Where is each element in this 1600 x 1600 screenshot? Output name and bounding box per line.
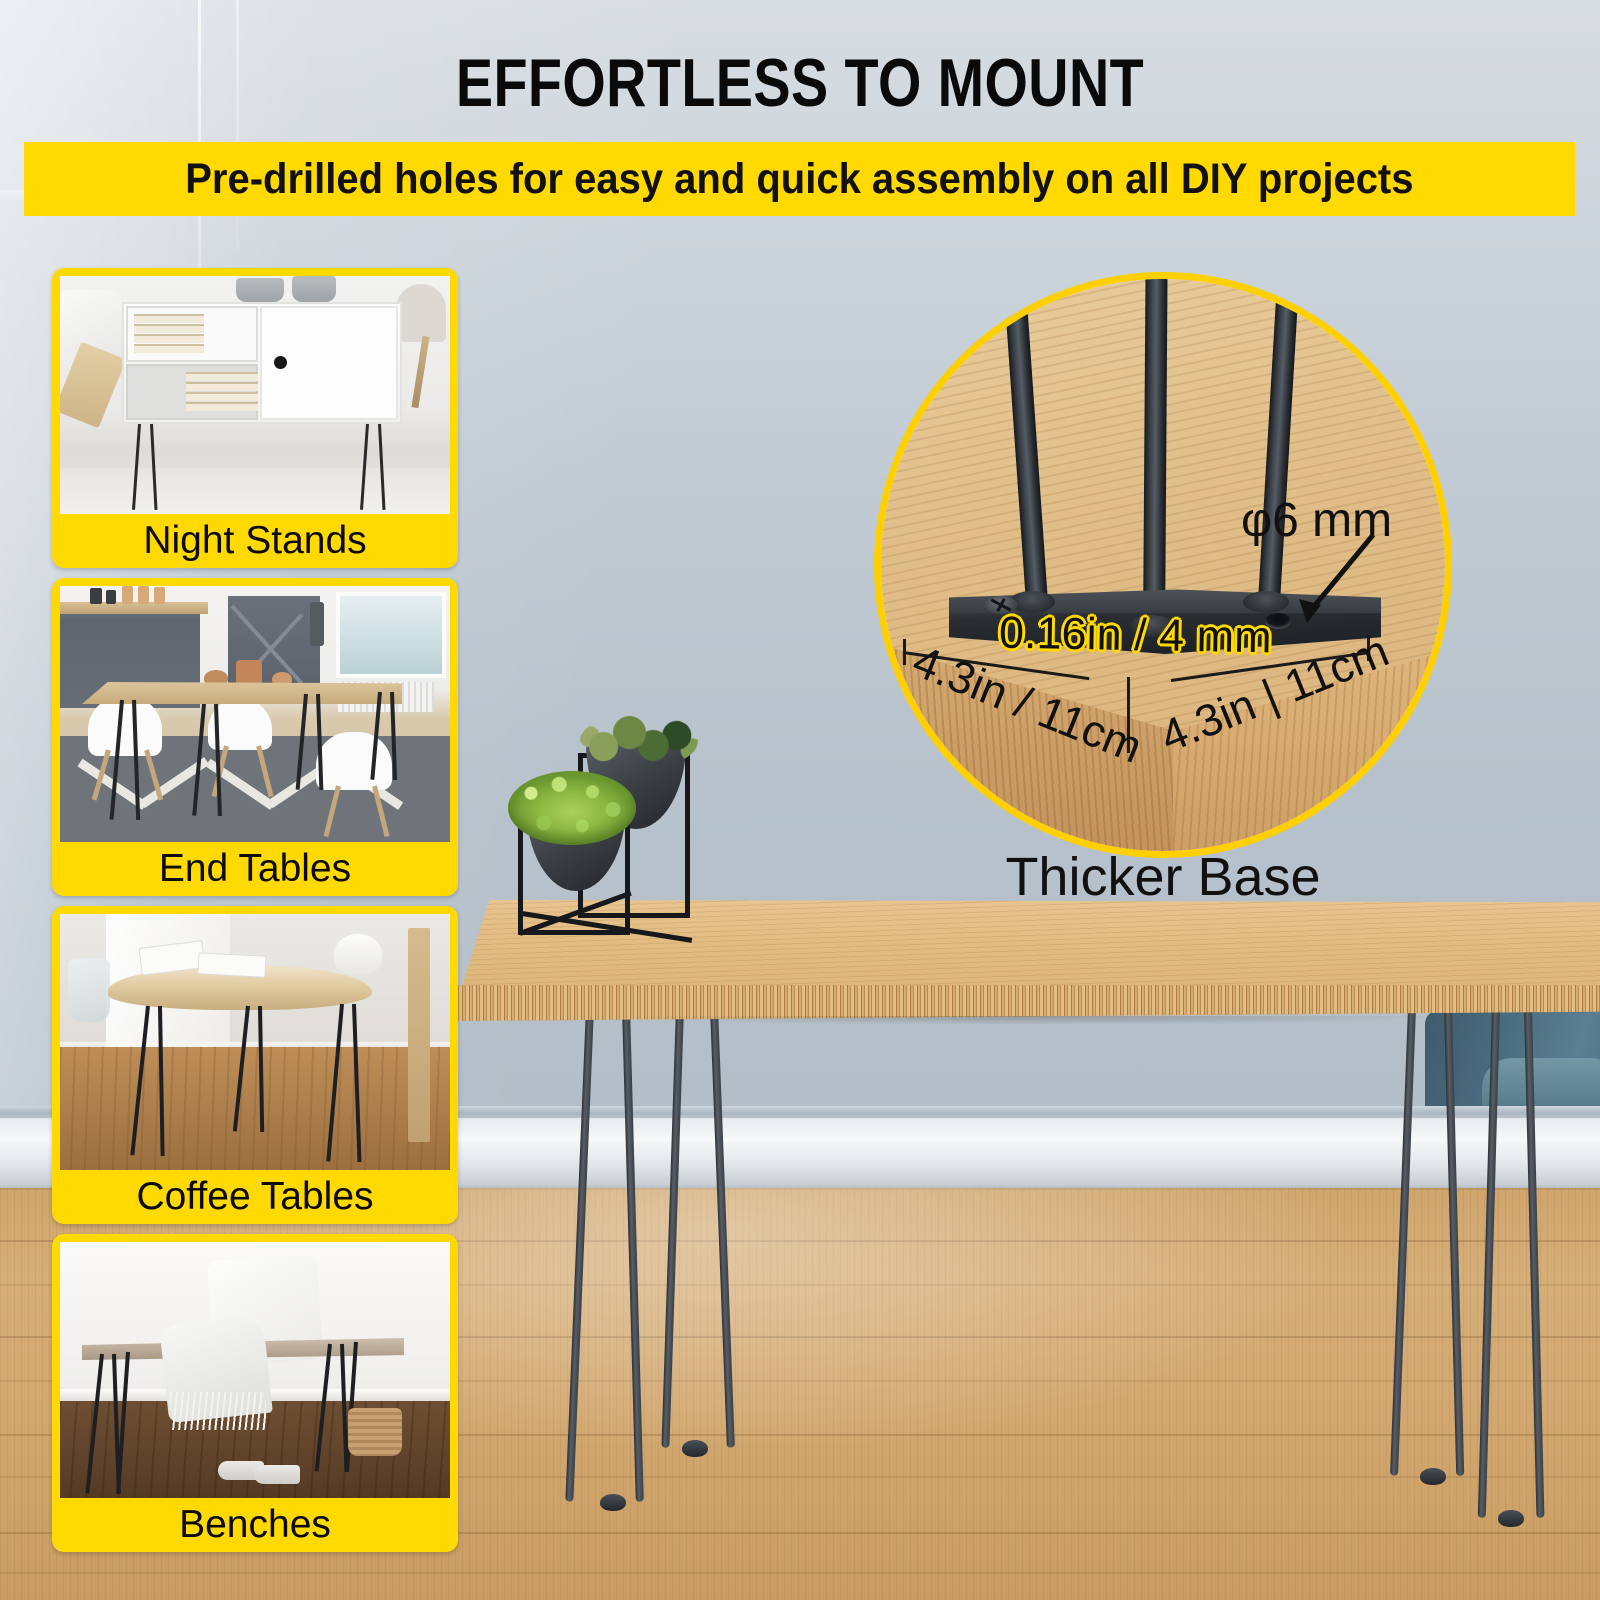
use-case-label: Coffee Tables [60, 1170, 450, 1224]
use-case-photo [60, 586, 450, 842]
hairpin-rod [1143, 272, 1168, 635]
detail-callout-circle: φ6 mm 0.16in / 4 mm 4.3in / 11cm 4.3in |… [874, 272, 1452, 858]
dim-label-hole-diameter: φ6 mm [1241, 493, 1392, 548]
table-leg-foot [1498, 1510, 1524, 1527]
page-title: EFFORTLESS TO MOUNT [144, 44, 1456, 122]
callout-caption: Thicker Base [874, 846, 1452, 908]
subtitle-banner: Pre-drilled holes for easy and quick ass… [24, 142, 1575, 216]
use-case-photo [60, 1242, 450, 1498]
use-case-card-end-tables[interactable]: End Tables [52, 578, 458, 896]
dim-label-plate-thickness: 0.16in / 4 mm [999, 607, 1272, 664]
dim-tick [903, 639, 906, 665]
use-case-label: Benches [60, 1498, 450, 1552]
succulent-foliage [580, 713, 698, 769]
weld-joint [1243, 591, 1289, 613]
use-case-photo [60, 276, 450, 514]
use-case-card-benches[interactable]: Benches [52, 1234, 458, 1552]
table-leg-foot [1420, 1468, 1446, 1485]
use-case-card-coffee-tables[interactable]: Coffee Tables [52, 906, 458, 1224]
table-shadow [470, 1016, 1590, 1034]
use-case-photo [60, 914, 450, 1170]
use-case-label: Night Stands [60, 514, 450, 568]
product-infographic: EFFORTLESS TO MOUNT Pre-drilled holes fo… [0, 0, 1600, 1600]
plant-stand [500, 735, 730, 990]
subtitle-text: Pre-drilled holes for easy and quick ass… [185, 155, 1413, 204]
use-case-card-night-stands[interactable]: Night Stands [52, 268, 458, 568]
moss-foliage [508, 771, 636, 845]
table-leg-foot [600, 1494, 626, 1511]
table-leg-foot [682, 1440, 708, 1457]
use-case-label: End Tables [60, 842, 450, 896]
